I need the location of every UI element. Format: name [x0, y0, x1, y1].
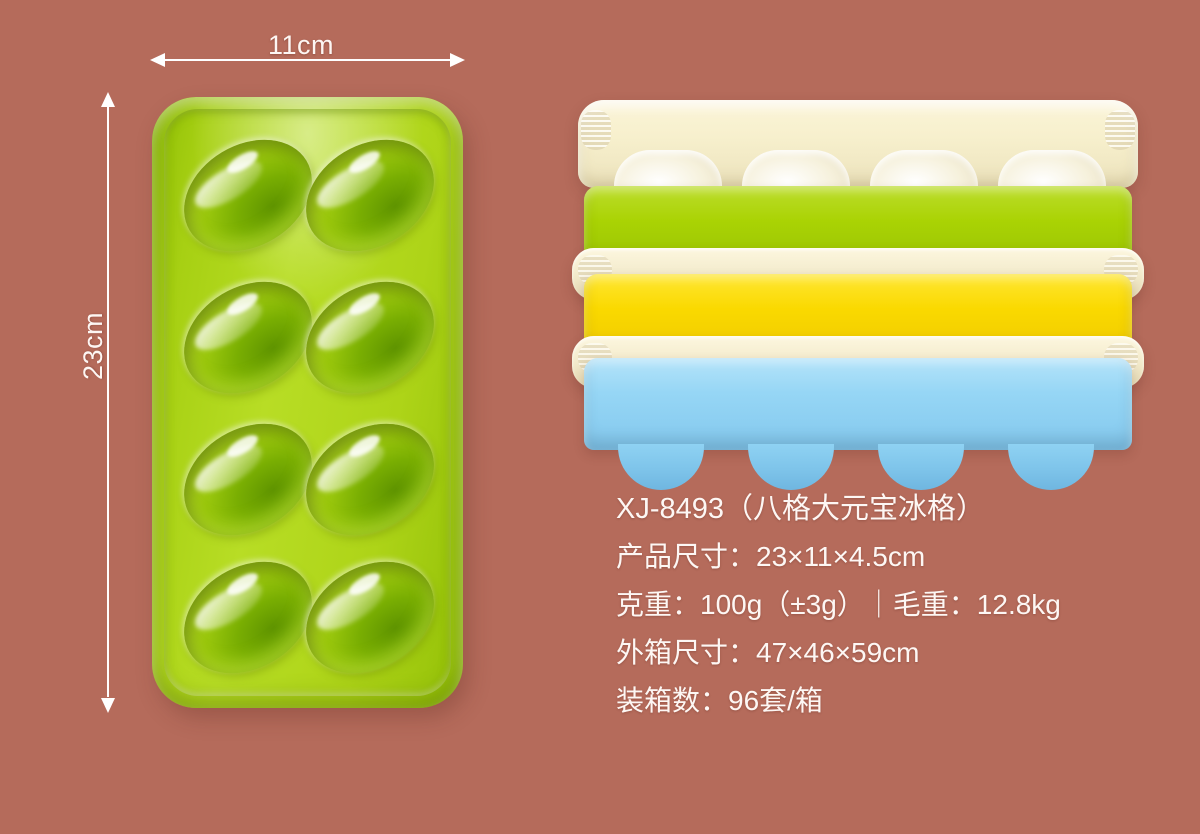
width-dimension-label: 11cm [268, 30, 334, 61]
height-arrow-down-icon [101, 698, 115, 713]
cavity-bump [1008, 444, 1094, 490]
lid-cap [998, 150, 1106, 186]
carton-qty-line: 装箱数：96套/箱 [616, 677, 1156, 725]
product-detail-image: 11cm 23cm [0, 0, 1200, 834]
height-dimension-label: 23cm [78, 312, 109, 380]
lid-cap [870, 150, 978, 186]
lid-ridge-right [1105, 110, 1135, 150]
cavity-bump [748, 444, 834, 490]
product-info-block: XJ-8493（八格大元宝冰格） 产品尺寸：23×11×4.5cm 克重：100… [616, 485, 1156, 725]
lid-cap [614, 150, 722, 186]
lid-cap-row [604, 152, 1112, 186]
blue-tray-side [584, 358, 1132, 450]
height-dimension-line [107, 103, 109, 697]
product-size-line: 产品尺寸：23×11×4.5cm [616, 533, 1156, 581]
cavity-bump [618, 444, 704, 490]
lid-ridge-left [581, 110, 611, 150]
lid-cap [742, 150, 850, 186]
width-dimension-line [160, 59, 453, 61]
height-arrow-up-icon [101, 92, 115, 107]
green-ice-tray-top-view [152, 97, 463, 708]
cavity-bump [878, 444, 964, 490]
cream-lid-top [578, 100, 1138, 188]
product-weight-line: 克重：100g（±3g）｜毛重：12.8kg [616, 581, 1156, 629]
product-model-line: XJ-8493（八格大元宝冰格） [616, 485, 1156, 533]
width-arrow-right-icon [450, 53, 465, 67]
width-arrow-left-icon [150, 53, 165, 67]
stacked-ice-trays [560, 100, 1160, 450]
carton-size-line: 外箱尺寸：47×46×59cm [616, 629, 1156, 677]
